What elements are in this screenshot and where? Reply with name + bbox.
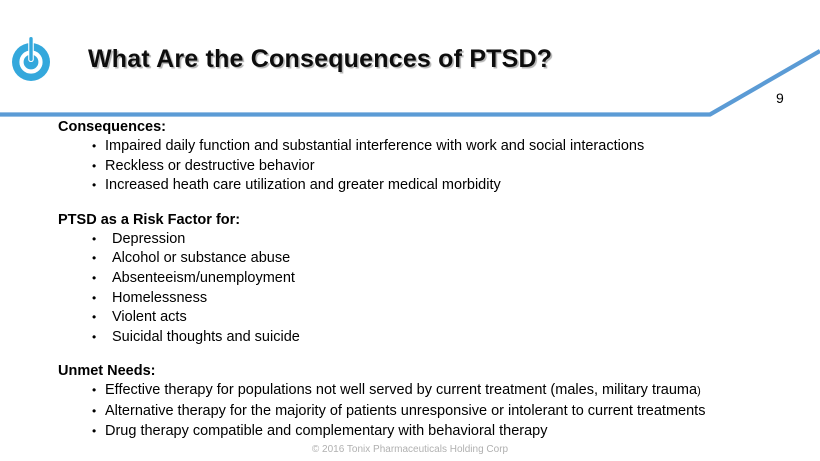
copyright-footer: © 2016 Tonix Pharmaceuticals Holding Cor… — [0, 444, 820, 455]
list-item: Alternative therapy for the majority of … — [58, 402, 788, 422]
list-item: Impaired daily function and substantial … — [58, 137, 788, 157]
section-spacer — [58, 196, 788, 211]
section-heading: Consequences: — [58, 118, 788, 137]
list-item: Depression — [58, 230, 788, 250]
list-item-suffix: ) — [697, 385, 701, 397]
section-consequences: Consequences: Impaired daily function an… — [58, 118, 788, 196]
list-item: Absenteeism/unemployment — [58, 269, 788, 289]
list-item: Suicidal thoughts and suicide — [58, 328, 788, 348]
slide-body: Consequences: Impaired daily function an… — [58, 118, 788, 441]
list-item-text: Effective therapy for populations not we… — [105, 382, 697, 398]
list-item: Homelessness — [58, 289, 788, 309]
list-item: Violent acts — [58, 308, 788, 328]
section-unmet-needs: Unmet Needs: Effective therapy for popul… — [58, 362, 788, 441]
list-item: Effective therapy for populations not we… — [58, 381, 788, 402]
section-heading: PTSD as a Risk Factor for: — [58, 211, 788, 230]
section-risk-factor: PTSD as a Risk Factor for: Depression Al… — [58, 211, 788, 348]
bullet-list: Impaired daily function and substantial … — [58, 137, 788, 196]
decorative-rule — [0, 40, 820, 125]
section-heading: Unmet Needs: — [58, 362, 788, 381]
list-item: Alcohol or substance abuse — [58, 249, 788, 269]
list-item: Drug therapy compatible and complementar… — [58, 422, 788, 442]
list-item: Increased heath care utilization and gre… — [58, 176, 788, 196]
bullet-list: Depression Alcohol or substance abuse Ab… — [58, 230, 788, 348]
section-spacer — [58, 347, 788, 362]
list-item: Reckless or destructive behavior — [58, 157, 788, 177]
page-number: 9 — [776, 90, 784, 106]
bullet-list: Effective therapy for populations not we… — [58, 381, 788, 441]
slide-canvas: What Are the Consequences of PTSD? 9 Con… — [0, 0, 820, 461]
